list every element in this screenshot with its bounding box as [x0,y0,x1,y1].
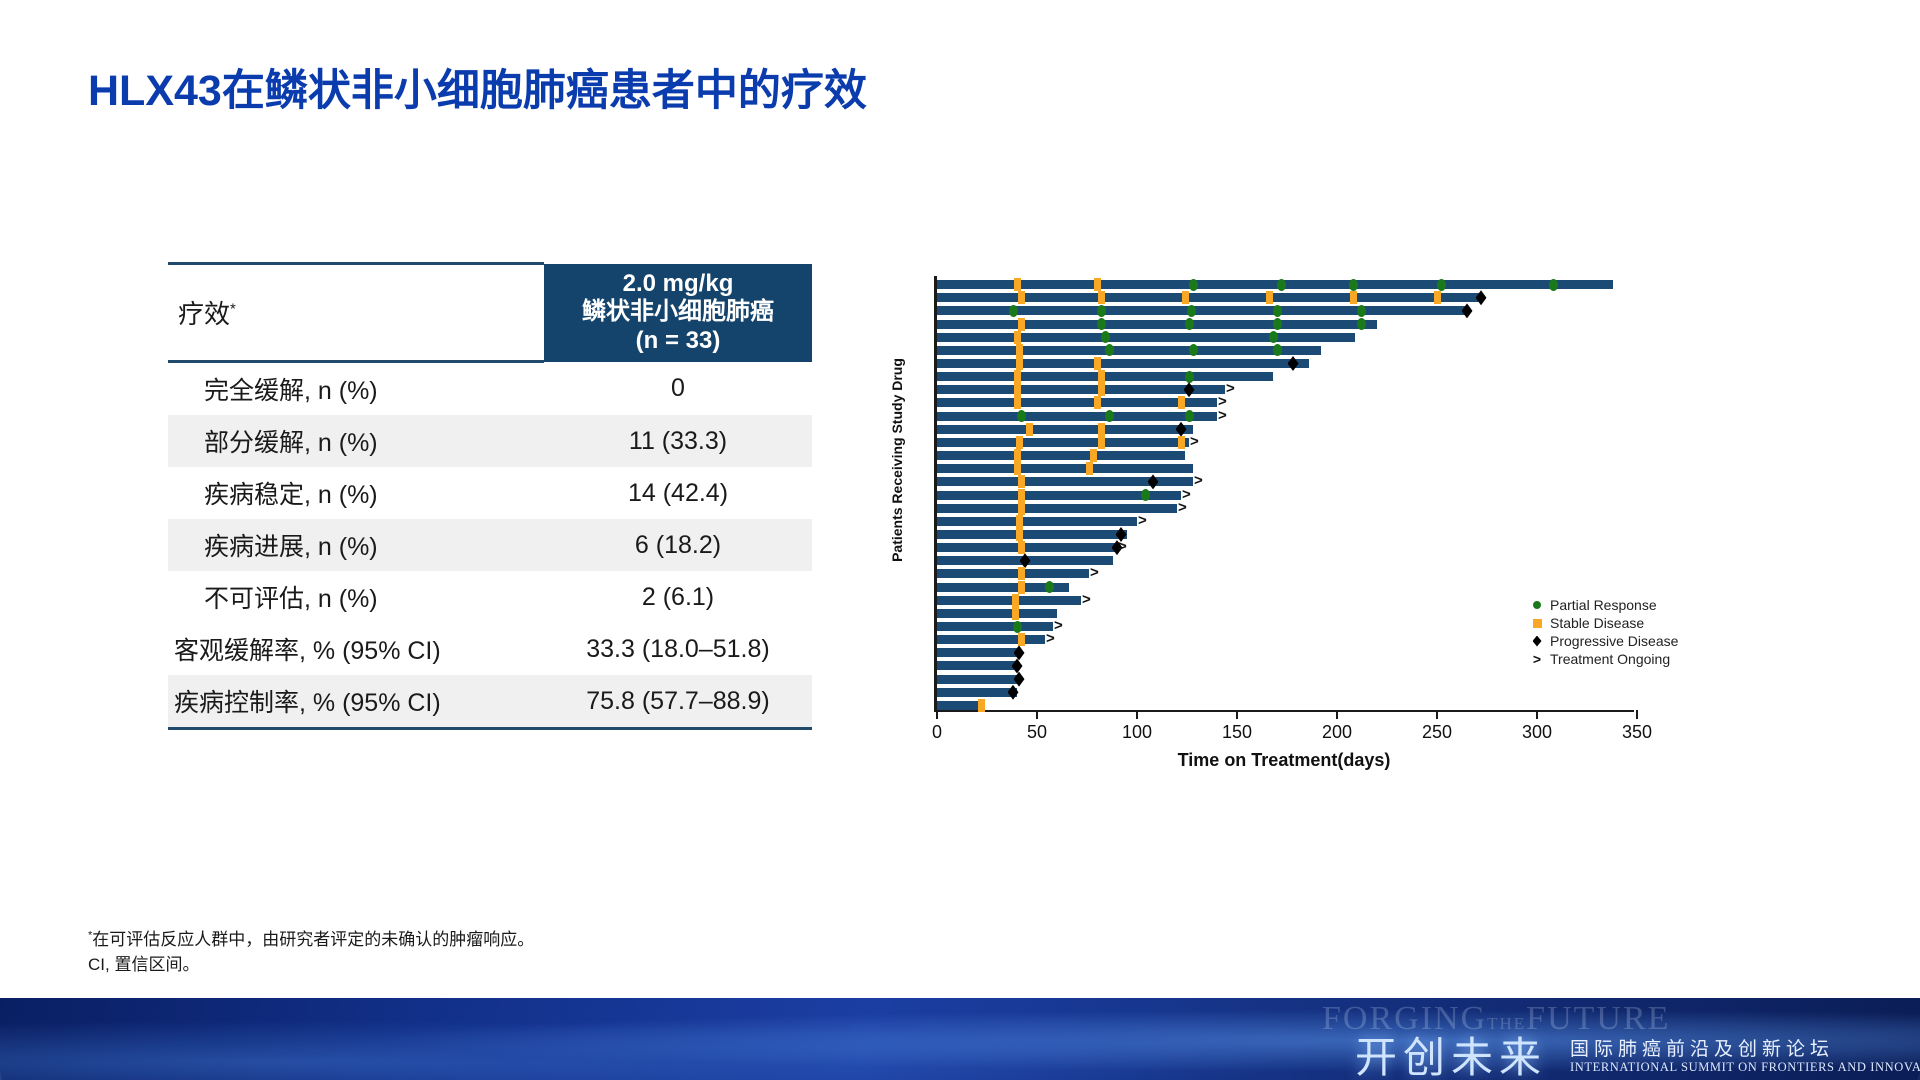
treatment-ongoing-marker: > [1046,631,1055,646]
swimmer-bar [937,438,1189,447]
table-header-efficacy: 疗效* [168,264,544,362]
circle-icon [1529,601,1545,609]
table-header-dose-line3: (n = 33) [544,327,812,355]
stable-disease-marker [1094,278,1101,291]
treatment-ongoing-marker: > [1138,513,1147,528]
stable-disease-marker [1018,541,1025,554]
table-cell-label: 部分缓解, n (%) [168,415,544,467]
swimmer-bar [937,372,1273,381]
treatment-ongoing-marker: > [1190,434,1199,449]
table-header-efficacy-asterisk: * [230,300,236,317]
swimmer-bar [937,661,1019,670]
swimmer-bar-row [937,320,1637,329]
plot-area: >>>>>>>>>>>>> 050100150200250300350 Part… [934,276,1634,710]
table-cell-label: 疾病进展, n (%) [168,519,544,571]
swimmer-bar-row [937,556,1637,565]
x-axis-tick-label: 100 [1122,722,1152,743]
stable-disease-marker [1098,436,1105,449]
efficacy-table: 疗效* 2.0 mg/kg 鳞状非小细胞肺癌 (n = 33) 完全缓解, n … [168,262,812,730]
swimmer-bar [937,530,1127,539]
swimmer-bar-row [937,306,1637,315]
swimmer-bar-row [937,293,1637,302]
swimmer-bar-row: > [937,543,1637,552]
x-axis-tick-label: 200 [1322,722,1352,743]
stable-disease-marker [1018,581,1025,594]
partial-response-marker [1097,318,1106,330]
partial-response-marker [1013,621,1022,633]
swimmer-bar [937,425,1193,434]
partial-response-marker [1273,305,1282,317]
partial-response-marker [1357,318,1366,330]
table-cell-value: 6 (18.2) [544,519,812,571]
x-axis-tick [1236,710,1238,719]
treatment-ongoing-marker: > [1178,500,1187,515]
swimmer-bar [937,622,1053,631]
x-axis-tick [1636,710,1638,719]
stable-disease-marker [1014,383,1021,396]
footnote-line-2: CI, 置信区间。 [88,953,534,978]
swimmer-bar [937,543,1117,552]
table-header-dose-line1: 2.0 mg/kg [544,270,812,298]
chart-y-axis-label: Patients Receiving Study Drug [884,250,910,670]
banner-english-subtitle: INTERNATIONAL SUMMIT ON FRONTIERS AND IN… [1570,1060,1920,1075]
banner-ghost-2: FUTURE [1526,1000,1670,1037]
stable-disease-marker [1178,436,1185,449]
table-cell-label: 客观缓解率, % (95% CI) [168,623,544,675]
stable-disease-marker [1018,502,1025,515]
stable-disease-marker [1350,291,1357,304]
x-axis-tick-label: 300 [1522,722,1552,743]
stable-disease-marker [1098,291,1105,304]
partial-response-marker [1437,279,1446,291]
partial-response-marker [1273,318,1282,330]
stable-disease-marker [1014,370,1021,383]
banner-chinese-title: 开创未来 [1355,1024,1547,1080]
swimmer-bar-row [937,425,1637,434]
swimmer-bar [937,346,1321,355]
swimmer-bar [937,320,1377,329]
swimmer-bar-row [937,359,1637,368]
table-row: 客观缓解率, % (95% CI)33.3 (18.0–51.8) [168,623,812,675]
treatment-ongoing-marker: > [1218,408,1227,423]
stable-disease-marker [1014,278,1021,291]
table-body: 完全缓解, n (%)0部分缓解, n (%)11 (33.3)疾病稳定, n … [168,362,812,729]
banner-chinese-subtitle: 国际肺癌前沿及创新论坛 [1570,1034,1834,1061]
swimmer-bar-row: > [937,491,1637,500]
swimmer-bar [937,596,1081,605]
x-axis-tick [1036,710,1038,719]
partial-response-marker [1141,489,1150,501]
stable-disease-marker [1018,633,1025,646]
swimmer-bar [937,648,1021,657]
swimmer-bar [937,517,1137,526]
stable-disease-marker [1090,449,1097,462]
x-axis-tick [936,710,938,719]
table-cell-value: 0 [544,362,812,416]
stable-disease-marker [1018,489,1025,502]
swimmer-bar [937,398,1217,407]
partial-response-marker [1105,410,1114,422]
stable-disease-marker [1012,607,1019,620]
swimmer-bar [937,635,1045,644]
treatment-ongoing-marker: > [1226,381,1235,396]
x-axis-line [934,710,1634,712]
table-row: 疾病进展, n (%)6 (18.2) [168,519,812,571]
swimmer-bar [937,333,1355,342]
x-axis-tick-label: 0 [932,722,942,743]
swimmer-plot: Patients Receiving Study Drug >>>>>>>>>>… [890,250,1870,730]
chart-legend: Partial Response Stable Disease Progress… [1529,596,1678,668]
stable-disease-marker [1098,423,1105,436]
page-title: HLX43在鳞状非小细胞肺癌患者中的疗效 [88,56,867,118]
swimmer-bar-row [937,346,1637,355]
footnote-line-1: *在可评估反应人群中，由研究者评定的未确认的肿瘤响应。 [88,928,534,953]
partial-response-marker [1349,279,1358,291]
chart-x-axis-label: Time on Treatment(days) [934,750,1634,771]
treatment-ongoing-marker: > [1054,618,1063,633]
footnote-line-1-text: 在可评估反应人群中，由研究者评定的未确认的肿瘤响应。 [92,930,534,949]
swimmer-bar [937,569,1089,578]
stable-disease-marker [1018,318,1025,331]
partial-response-marker [1357,305,1366,317]
stable-disease-marker [1012,594,1019,607]
stable-disease-marker [1016,344,1023,357]
partial-response-marker [1549,279,1558,291]
swimmer-bar-row [937,451,1637,460]
stable-disease-marker [1014,396,1021,409]
stable-disease-marker [1178,396,1185,409]
stable-disease-marker [1014,462,1021,475]
swimmer-bar-row: > [937,569,1637,578]
table-cell-label: 不可评估, n (%) [168,571,544,623]
stable-disease-marker [1094,357,1101,370]
stable-disease-marker [1018,567,1025,580]
x-axis-tick [1436,710,1438,719]
partial-response-marker [1017,410,1026,422]
chart-y-axis-label-text: Patients Receiving Study Drug [889,358,905,562]
stable-disease-marker [1182,291,1189,304]
swimmer-bar-row: > [937,504,1637,513]
swimmer-bar [937,412,1217,421]
table-row: 疾病稳定, n (%)14 (42.4) [168,467,812,519]
partial-response-marker [1045,581,1054,593]
table-cell-label: 疾病稳定, n (%) [168,467,544,519]
table-cell-value: 33.3 (18.0–51.8) [544,623,812,675]
swimmer-bar [937,464,1193,473]
stable-disease-marker [1014,331,1021,344]
treatment-ongoing-marker: > [1090,565,1099,580]
stable-disease-marker [1094,396,1101,409]
table-cell-value: 75.8 (57.7–88.9) [544,675,812,729]
swimmer-bar-row [937,333,1637,342]
table-cell-value: 11 (33.3) [544,415,812,467]
swimmer-bar [937,280,1613,289]
partial-response-marker [1101,331,1110,343]
legend-label-progressive-disease: Progressive Disease [1550,632,1678,651]
swimmer-bar [937,609,1057,618]
partial-response-marker [1185,371,1194,383]
partial-response-marker [1185,410,1194,422]
legend-item-treatment-ongoing: > Treatment Ongoing [1529,650,1678,668]
x-axis-tick [1536,710,1538,719]
swimmer-bar-row [937,372,1637,381]
x-axis-tick-label: 50 [1027,722,1047,743]
partial-response-marker [1189,279,1198,291]
stable-disease-marker [1014,449,1021,462]
partial-response-marker [1269,331,1278,343]
square-icon [1529,619,1545,628]
table-header-dose-line2: 鳞状非小细胞肺癌 [544,298,812,326]
partial-response-marker [1009,305,1018,317]
partial-response-marker [1105,344,1114,356]
partial-response-marker [1277,279,1286,291]
swimmer-bar-row [937,675,1637,684]
table-header-dose: 2.0 mg/kg 鳞状非小细胞肺癌 (n = 33) [544,264,812,362]
swimmer-bar-row [937,464,1637,473]
stable-disease-marker [1018,291,1025,304]
x-axis-tick-label: 350 [1622,722,1652,743]
stable-disease-marker [1098,383,1105,396]
swimmer-bar [937,675,1021,684]
table-header-row: 疗效* 2.0 mg/kg 鳞状非小细胞肺癌 (n = 33) [168,264,812,362]
table-row: 部分缓解, n (%)11 (33.3) [168,415,812,467]
legend-label-partial-response: Partial Response [1550,596,1657,615]
partial-response-marker [1185,318,1194,330]
table-cell-value: 2 (6.1) [544,571,812,623]
x-axis-tick-label: 150 [1222,722,1252,743]
swimmer-bar-row [937,530,1637,539]
partial-response-marker [1097,305,1106,317]
table-header: 疗效* 2.0 mg/kg 鳞状非小细胞肺癌 (n = 33) [168,264,812,362]
swimmer-bar-row: > [937,517,1637,526]
swimmer-bar [937,451,1185,460]
swimmer-bar-row [937,583,1637,592]
stable-disease-marker [1016,357,1023,370]
legend-label-stable-disease: Stable Disease [1550,614,1644,633]
swimmer-bar [937,385,1225,394]
table-cell-label: 疾病控制率, % (95% CI) [168,675,544,729]
legend-label-treatment-ongoing: Treatment Ongoing [1550,650,1670,669]
stable-disease-marker [1016,436,1023,449]
legend-item-stable-disease: Stable Disease [1529,614,1678,632]
partial-response-marker [1187,305,1196,317]
treatment-ongoing-marker: > [1082,592,1091,607]
chevron-right-icon: > [1529,650,1545,669]
stable-disease-marker [1266,291,1273,304]
x-axis-tick [1136,710,1138,719]
x-axis-tick [1336,710,1338,719]
swimmer-bar [937,359,1309,368]
legend-item-progressive-disease: Progressive Disease [1529,632,1678,650]
swimmer-bar-row: > [937,385,1637,394]
table-cell-label: 完全缓解, n (%) [168,362,544,416]
table-row: 完全缓解, n (%)0 [168,362,812,416]
stable-disease-marker [1016,528,1023,541]
table-row: 疾病控制率, % (95% CI)75.8 (57.7–88.9) [168,675,812,729]
table-header-efficacy-label: 疗效 [178,299,230,329]
swimmer-bar-row [937,701,1637,710]
table-row: 不可评估, n (%)2 (6.1) [168,571,812,623]
footnote: *在可评估反应人群中，由研究者评定的未确认的肿瘤响应。 CI, 置信区间。 [88,928,534,977]
swimmer-bar [937,688,1017,697]
legend-item-partial-response: Partial Response [1529,596,1678,614]
swimmer-bar-row: > [937,398,1637,407]
swimmer-bar-row: > [937,412,1637,421]
footer-banner: FORGINGTHEFUTURE 开创未来 国际肺癌前沿及创新论坛 INTERN… [0,998,1920,1080]
swimmer-bar-row [937,688,1637,697]
partial-response-marker [1273,344,1282,356]
stable-disease-marker [1434,291,1441,304]
stable-disease-marker [978,699,985,712]
treatment-ongoing-marker: > [1118,539,1127,554]
partial-response-marker [1189,344,1198,356]
treatment-ongoing-marker: > [1194,473,1203,488]
x-axis-tick-label: 250 [1422,722,1452,743]
stable-disease-marker [1086,462,1093,475]
stable-disease-marker [1016,515,1023,528]
stable-disease-marker [1026,423,1033,436]
swimmer-bar-row: > [937,438,1637,447]
diamond-icon [1529,636,1545,647]
table-cell-value: 14 (42.4) [544,467,812,519]
stable-disease-marker [1098,370,1105,383]
swimmer-bar-row [937,280,1637,289]
stable-disease-marker [1018,475,1025,488]
swimmer-bar-row: > [937,477,1637,486]
